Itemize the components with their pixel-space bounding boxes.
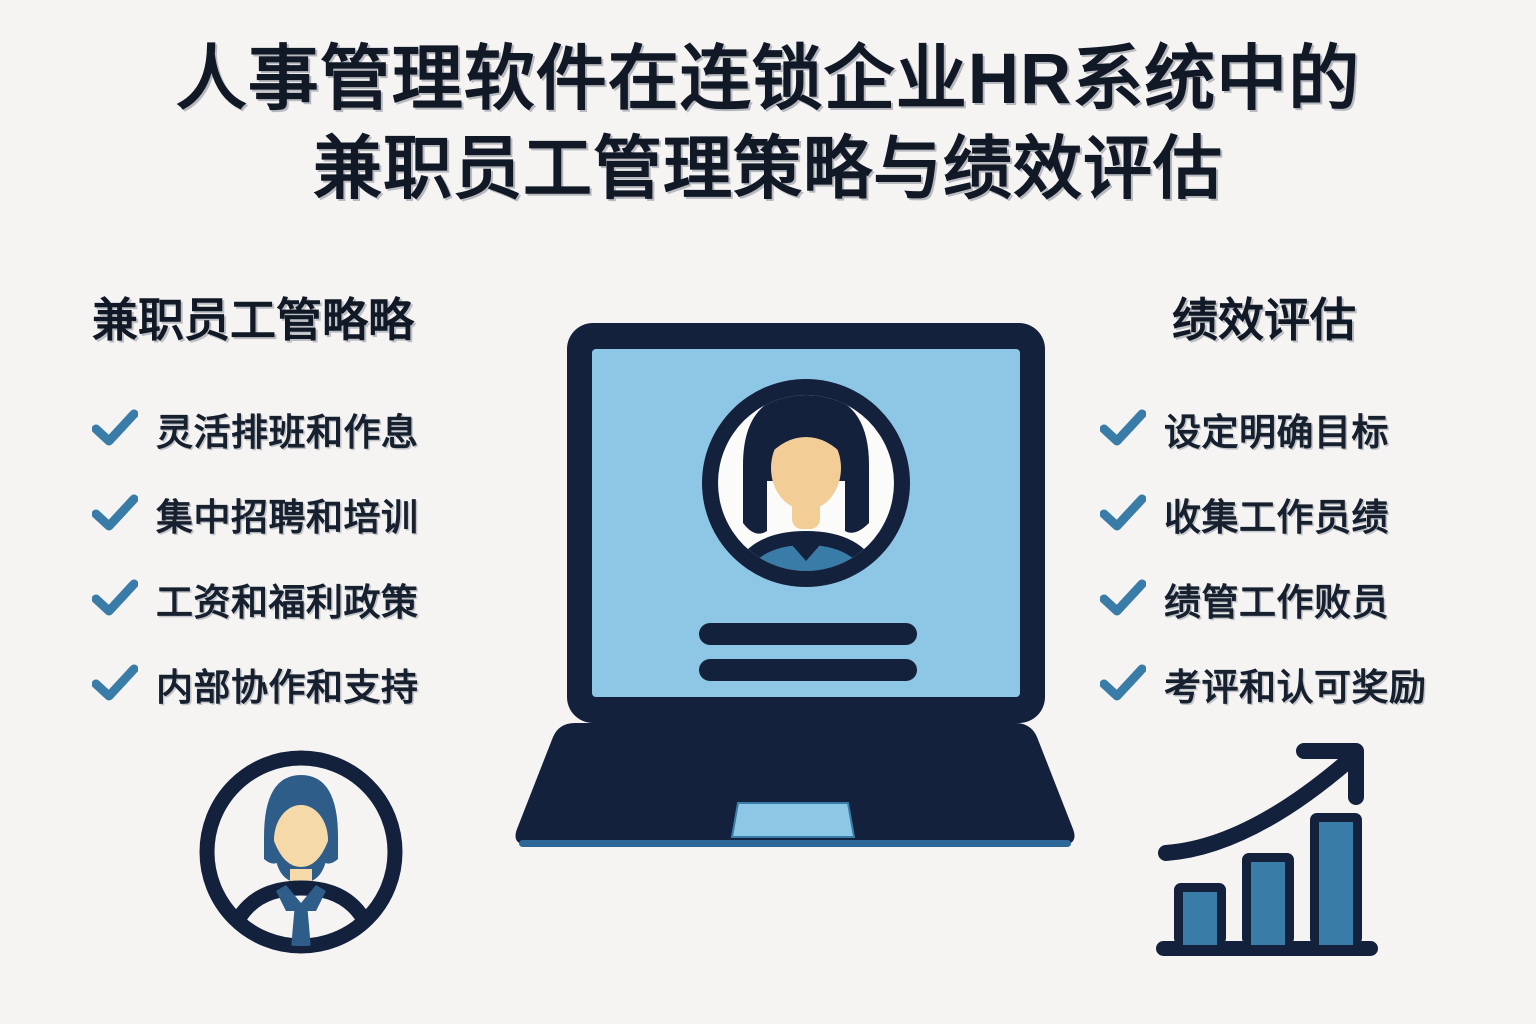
title-line-2: 兼职员工管理策略与绩效评估 — [0, 128, 1536, 209]
check-icon — [92, 409, 138, 449]
infographic-canvas: 人事管理软件在连锁企业HR系统中的 兼职员工管理策略与绩效评估 兼职员工管略略 … — [0, 0, 1536, 1024]
growth-bar-chart-icon — [1152, 735, 1382, 965]
list-item-label: 工资和福利政策 — [156, 572, 419, 626]
bar-1 — [1174, 883, 1226, 945]
list-item: 集中招聘和培训 — [92, 471, 522, 556]
list-item: 收集工作员绩 — [1100, 471, 1530, 556]
list-item-label: 绩管工作败员 — [1164, 572, 1389, 626]
left-bullet-list: 灵活排班和作息 集中招聘和培训 工资和福利政策 内部协作和支持 — [92, 386, 522, 726]
page-title: 人事管理软件在连锁企业HR系统中的 兼职员工管理策略与绩效评估 — [0, 38, 1536, 209]
list-item-label: 灵活排班和作息 — [156, 402, 419, 456]
list-item: 考评和认可奖励 — [1100, 641, 1530, 726]
profile-detail-line — [699, 659, 917, 681]
list-item-label: 考评和认可奖励 — [1164, 657, 1427, 711]
list-item: 绩管工作败员 — [1100, 556, 1530, 641]
check-icon — [92, 494, 138, 534]
check-icon — [1100, 494, 1146, 534]
bar-2 — [1242, 853, 1294, 945]
list-item: 内部协作和支持 — [92, 641, 522, 726]
right-bullet-list: 设定明确目标 收集工作员绩 绩管工作败员 考评和认可奖励 — [1100, 386, 1530, 726]
check-icon — [1100, 409, 1146, 449]
list-item-label: 内部协作和支持 — [156, 657, 419, 711]
right-column-heading: 绩效评估 — [1172, 284, 1356, 350]
laptop-illustration — [495, 305, 1095, 865]
list-item: 设定明确目标 — [1100, 386, 1530, 471]
list-item-label: 设定明确目标 — [1164, 402, 1389, 456]
check-icon — [92, 579, 138, 619]
left-column-heading: 兼职员工管略略 — [92, 284, 414, 350]
list-item: 工资和福利政策 — [92, 556, 522, 641]
profile-detail-line — [699, 623, 917, 645]
list-item-label: 收集工作员绩 — [1164, 487, 1389, 541]
bar-3 — [1310, 813, 1362, 945]
check-icon — [1100, 664, 1146, 704]
check-icon — [92, 664, 138, 704]
list-item: 灵活排班和作息 — [92, 386, 522, 471]
list-item-label: 集中招聘和培训 — [156, 487, 419, 541]
check-icon — [1100, 579, 1146, 619]
title-line-1: 人事管理软件在连锁企业HR系统中的 — [0, 38, 1536, 122]
male-employee-avatar-icon — [196, 745, 406, 960]
